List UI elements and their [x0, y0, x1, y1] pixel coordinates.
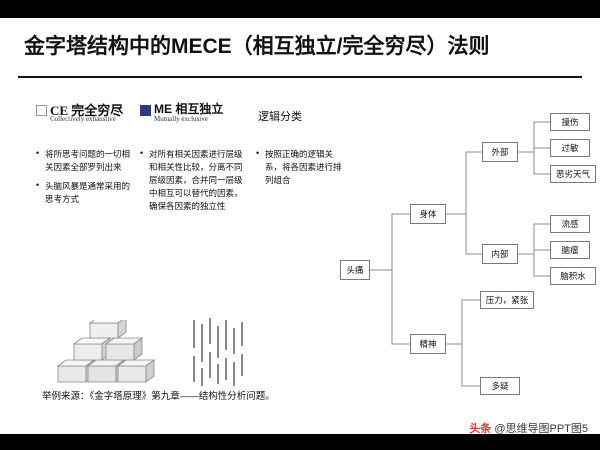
- legend-ce-subtitle: Collectively exhaustive: [50, 115, 116, 123]
- top-black-band: [0, 0, 600, 18]
- tree-node-flu: 流感: [550, 215, 590, 233]
- tree-node-weather: 恶劣天气: [550, 165, 596, 183]
- tree-node-suspicion: 多疑: [480, 377, 520, 395]
- list-item: 对所有相关因素进行层级和相关性比较，分离不同层级因素，合并同一层级中相互可以替代…: [140, 148, 244, 213]
- mece-tree-diagram: 头痛 身体 精神 外部 内部 撞伤 过敏 恶劣天气 流感 脑瘤 脑积水 压力，紧…: [300, 96, 600, 406]
- filled-square-marker-icon: [140, 105, 151, 116]
- tree-node-allergy: 过敏: [550, 139, 590, 157]
- tree-node-trauma: 撞伤: [550, 113, 590, 131]
- empty-square-marker-icon: [36, 105, 47, 116]
- bullets-ce: 将所思考问题的一切相关因素全部罗列出来 头脑风暴是通常采用的思考方式: [36, 148, 132, 212]
- list-item: 头脑风暴是通常采用的思考方式: [36, 180, 132, 206]
- title-divider: [18, 76, 582, 78]
- tree-node-tumor: 脑瘤: [550, 241, 590, 259]
- tree-node-root: 头痛: [340, 260, 370, 280]
- tree-node-hydrocephalus: 脑积水: [550, 267, 596, 285]
- cubes-illustration: [52, 320, 172, 386]
- tree-node-body: 身体: [410, 204, 446, 224]
- bullets-me: 对所有相关因素进行层级和相关性比较，分离不同层级因素，合并同一层级中相互可以替代…: [140, 148, 244, 219]
- list-item: 将所思考问题的一切相关因素全部罗列出来: [36, 148, 132, 174]
- legend-me-subtitle: Mutually exclusive: [154, 115, 208, 123]
- title-area: 金字塔结构中的MECE（相互独立/完全穷尽）法则: [0, 18, 600, 76]
- bottom-black-band: [0, 434, 600, 450]
- legend-logic-title: 逻辑分类: [258, 108, 302, 124]
- tree-node-stress: 压力，紧张: [480, 291, 534, 309]
- tree-node-internal: 内部: [482, 244, 518, 264]
- page-title: 金字塔结构中的MECE（相互独立/完全穷尽）法则: [24, 30, 490, 60]
- tree-node-external: 外部: [482, 142, 518, 162]
- source-caption: 举例来源：《金字塔原理》第九章——结构性分析问题。: [42, 388, 275, 402]
- slide-canvas: 金字塔结构中的MECE（相互独立/完全穷尽）法则 CE 完全穷尽 Collect…: [0, 0, 600, 450]
- rain-lines-decoration: [190, 318, 250, 388]
- tree-node-mind: 精神: [410, 334, 446, 354]
